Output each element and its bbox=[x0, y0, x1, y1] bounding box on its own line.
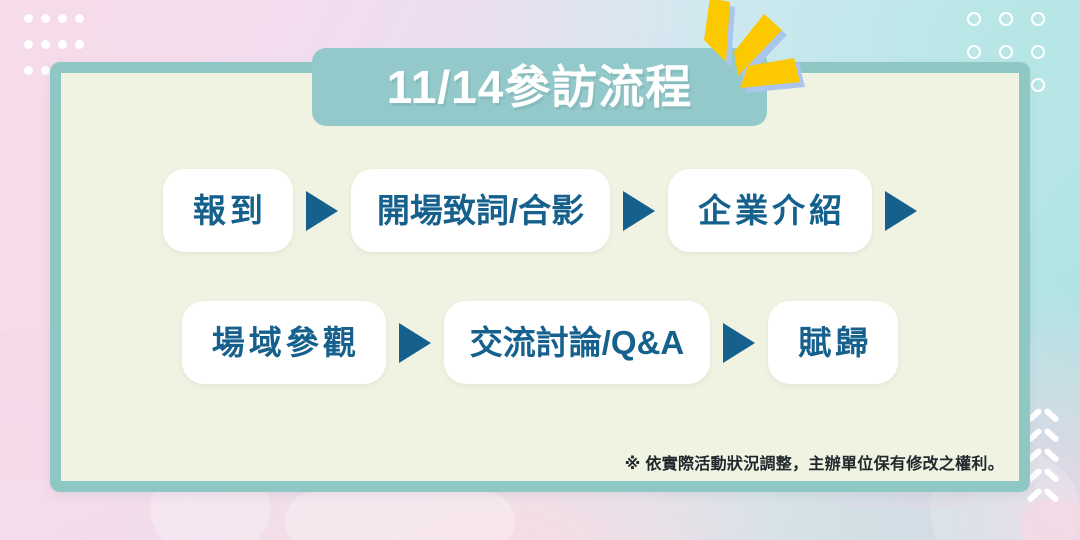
flow-step-box[interactable]: 交流討論/Q&A bbox=[444, 301, 711, 384]
triangle-right-icon bbox=[306, 191, 338, 231]
triangle-right-icon bbox=[885, 191, 917, 231]
dot-icon bbox=[24, 14, 33, 23]
dot-icon bbox=[58, 14, 67, 23]
dot-icon bbox=[58, 40, 67, 49]
ring-icon bbox=[1031, 12, 1045, 26]
flow-step-box[interactable]: 賦歸 bbox=[768, 301, 898, 384]
poster-canvas: 11/14參訪流程 報到 開場致詞/合影 企業介紹 場域參觀 交流討論/Q&A bbox=[0, 0, 1080, 540]
footnote-text: ※ 依實際活動狀況調整，主辦單位保有修改之權利。 bbox=[625, 450, 1004, 474]
ring-icon bbox=[967, 12, 981, 26]
flow-step-box[interactable]: 企業介紹 bbox=[668, 169, 872, 252]
flow-step-label: 報到 bbox=[189, 194, 267, 227]
flow-step-label: 交流討論/Q&A bbox=[470, 326, 685, 359]
chevron-up-decoration bbox=[1028, 415, 1058, 512]
flow-diagram: 報到 開場致詞/合影 企業介紹 場域參觀 交流討論/Q&A 賦歸 bbox=[50, 62, 1030, 492]
dot-icon bbox=[41, 66, 50, 75]
flow-step-box[interactable]: 場域參觀 bbox=[182, 301, 386, 384]
flow-step-box[interactable]: 開場致詞/合影 bbox=[351, 169, 610, 252]
dot-icon bbox=[75, 40, 84, 49]
ring-icon bbox=[999, 45, 1013, 59]
ring-icon bbox=[1031, 78, 1045, 92]
triangle-right-icon bbox=[399, 323, 431, 363]
chevron-up-icon bbox=[1028, 495, 1058, 512]
flow-step-box[interactable]: 報到 bbox=[163, 169, 293, 252]
chevron-up-icon bbox=[1028, 415, 1058, 432]
ring-icon bbox=[1031, 45, 1045, 59]
page-title: 11/14參訪流程 bbox=[387, 64, 693, 110]
flow-row-2: 場域參觀 交流討論/Q&A 賦歸 bbox=[50, 301, 1030, 384]
dot-icon bbox=[41, 14, 50, 23]
dot-icon bbox=[41, 40, 50, 49]
dot-icon bbox=[24, 40, 33, 49]
ring-icon bbox=[967, 45, 981, 59]
ring-icon bbox=[999, 12, 1013, 26]
flow-row-1: 報到 開場致詞/合影 企業介紹 bbox=[50, 169, 1030, 252]
triangle-right-icon bbox=[623, 191, 655, 231]
dot-icon bbox=[75, 14, 84, 23]
background-blob bbox=[285, 492, 515, 540]
chevron-up-icon bbox=[1028, 455, 1058, 472]
dot-icon bbox=[24, 66, 33, 75]
flow-step-label: 賦歸 bbox=[794, 326, 872, 359]
chevron-up-icon bbox=[1028, 475, 1058, 492]
flow-step-label: 開場致詞/合影 bbox=[377, 194, 584, 227]
sparkle-burst-icon bbox=[690, 0, 840, 106]
chevron-up-icon bbox=[1028, 435, 1058, 452]
flow-step-label: 企業介紹 bbox=[694, 194, 846, 227]
triangle-right-icon bbox=[723, 323, 755, 363]
flow-step-label: 場域參觀 bbox=[208, 326, 360, 359]
